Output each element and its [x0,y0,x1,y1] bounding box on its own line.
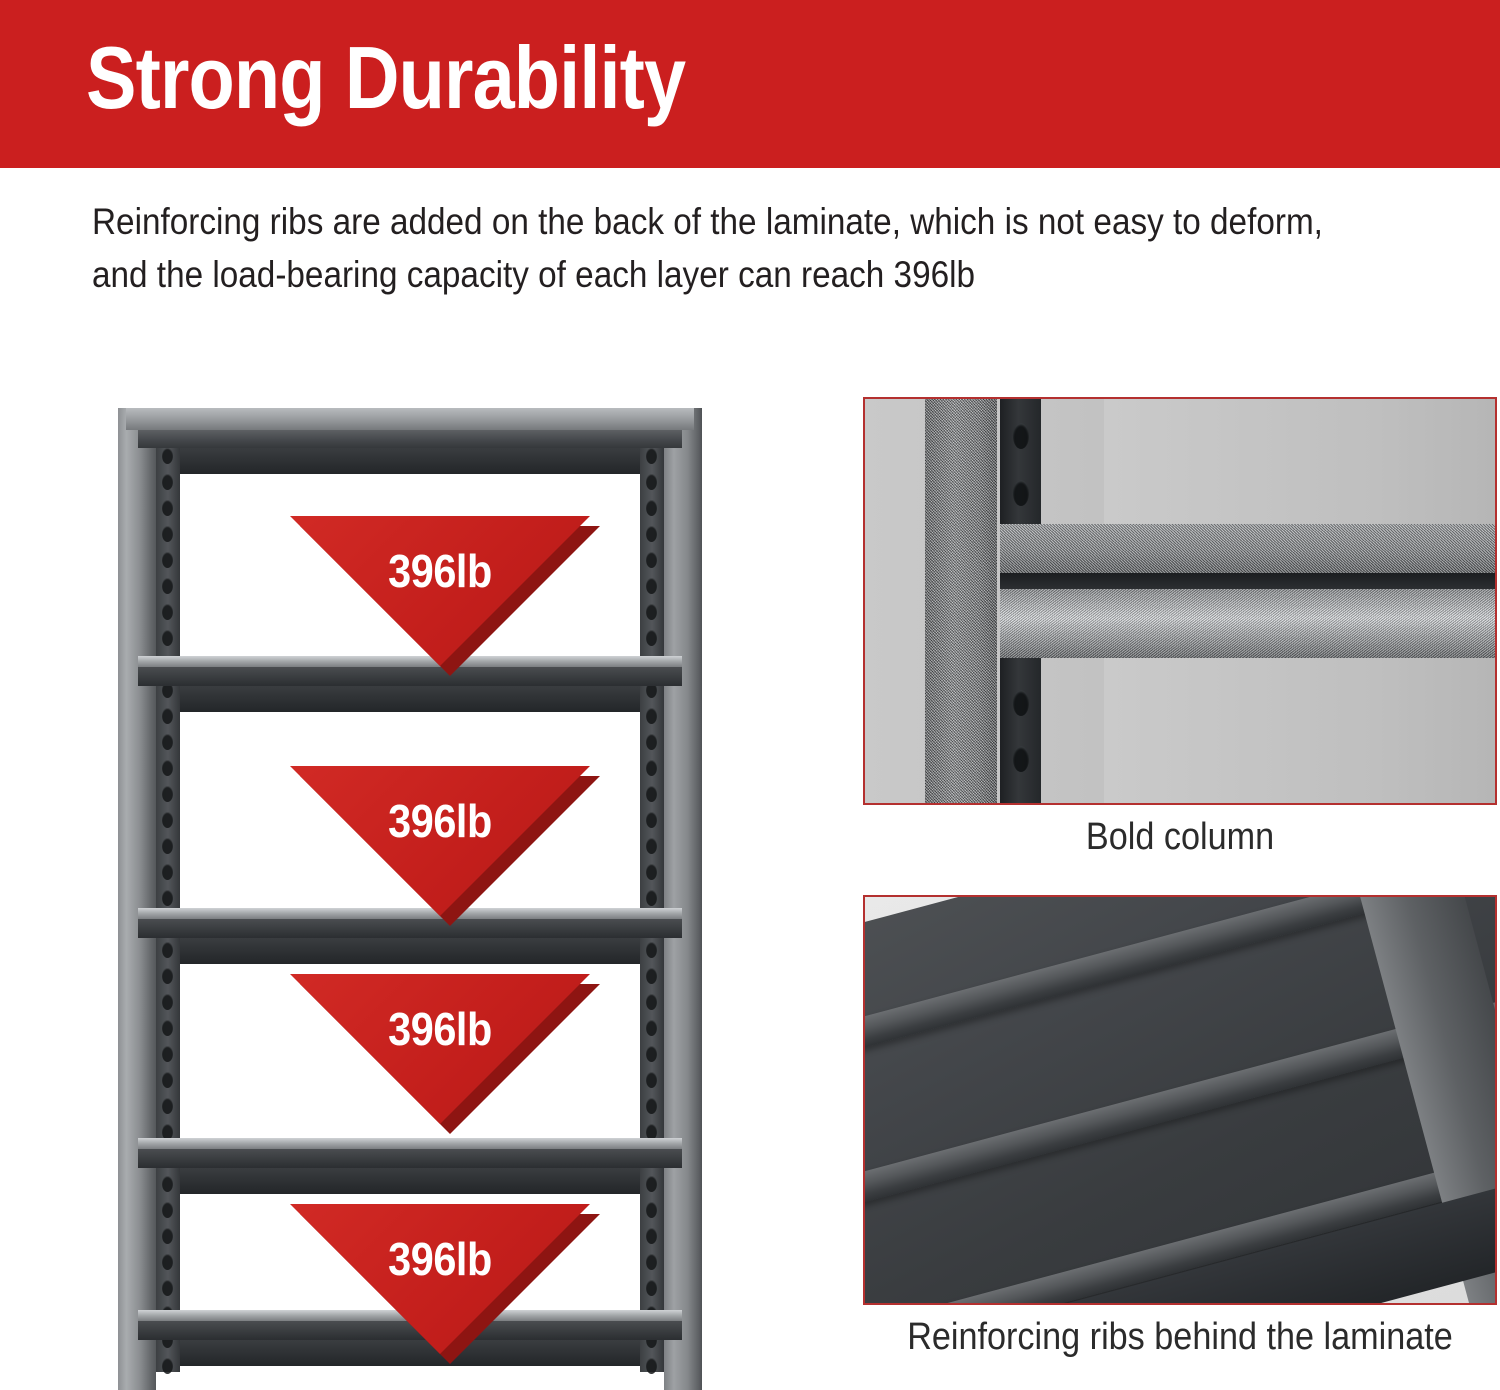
post-perforation [162,604,173,620]
post-perforation [162,552,173,568]
post-perforation [646,812,657,828]
post-perforation [162,1358,173,1374]
beam-seam [1000,573,1495,589]
rack-flange-left [156,442,180,1372]
post-perforation [646,942,657,958]
header-banner: Strong Durability [0,0,1500,168]
photo-panel-bold-column [863,397,1497,805]
post-perforation [646,1098,657,1114]
post-perforation [162,864,173,880]
post-perforation [162,448,173,464]
post-stud [1013,480,1029,506]
upper-beam-photo [1000,524,1495,572]
post-perforation [646,578,657,594]
load-badge-2: 396lb [290,766,590,916]
shelf-deck-4 [152,1168,668,1194]
shelf-deck-2 [152,686,668,712]
load-badge-1: 396lb [290,516,590,666]
post-perforation [162,812,173,828]
post-perforation [646,1280,657,1296]
intro-line-1: Reinforcing ribs are added on the back o… [92,196,1280,249]
load-badge-label: 396lb [305,544,575,598]
load-badge-3: 396lb [290,974,590,1124]
post-perforation [162,474,173,490]
shelving-unit-illustration: 396lb 396lb 396lb 396lb [118,408,702,1390]
post-perforation [162,578,173,594]
post-perforation [646,1176,657,1192]
shelf-deck-1 [152,448,668,474]
post-perforation [162,786,173,802]
photo-panel-reinforcing-ribs [863,895,1497,1305]
load-badge-label: 396lb [305,1002,575,1056]
post-perforation [646,474,657,490]
rack-post-left [118,408,156,1390]
post-perforation [646,1228,657,1244]
post-perforation [646,760,657,776]
post-perforation [646,448,657,464]
post-perforation [162,968,173,984]
post-stud [1013,423,1029,449]
post-stud [1013,746,1029,772]
post-perforation [162,1046,173,1062]
lower-beam-photo [1000,589,1495,658]
post-stud [1013,690,1029,716]
load-badge-label: 396lb [305,794,575,848]
post-perforation [646,1358,657,1374]
post-perforation [646,500,657,516]
post-perforation [646,1020,657,1036]
post-perforation [646,786,657,802]
post-perforation [162,734,173,750]
post-perforation [162,760,173,776]
post-perforation [162,1254,173,1270]
post-perforation [646,838,657,854]
post-perforation [162,1098,173,1114]
post-perforation [646,890,657,906]
post-perforation [162,630,173,646]
post-perforation [646,1202,657,1218]
post-perforation [162,1228,173,1244]
rack-post-right [664,408,702,1390]
post-perforation [646,734,657,750]
post-perforation [162,1072,173,1088]
post-perforation [646,1254,657,1270]
post-perforation [162,1020,173,1036]
caption-reinforcing-ribs: Reinforcing ribs behind the laminate [895,1316,1466,1359]
rack-top-rail [138,430,682,448]
post-perforation [162,708,173,724]
post-perforation [646,708,657,724]
post-perforation [162,838,173,854]
page-title: Strong Durability [86,30,685,125]
post-perforation [162,1280,173,1296]
post-perforation [162,1176,173,1192]
post-perforation [646,630,657,646]
post-perforation [162,526,173,542]
shelf-deck-3 [152,938,668,964]
post-perforation [162,1202,173,1218]
rack-top-cap [126,408,694,430]
post-perforation [646,1072,657,1088]
post-perforation [646,552,657,568]
load-badge-4: 396lb [290,1204,590,1354]
post-perforation [162,942,173,958]
post-perforation [646,1046,657,1062]
shelf-beam-4 [138,1138,682,1168]
post-perforation [646,968,657,984]
post-perforation [162,500,173,516]
caption-bold-column: Bold column [895,816,1466,859]
intro-line-2: and the load-bearing capacity of each la… [92,249,1280,302]
upright-column-photo [925,399,997,803]
post-perforation [162,890,173,906]
post-perforation [646,994,657,1010]
rack-flange-right [640,442,664,1372]
post-perforation [646,526,657,542]
post-perforation [162,994,173,1010]
post-perforation [646,864,657,880]
intro-paragraph: Reinforcing ribs are added on the back o… [92,196,1280,301]
load-badge-label: 396lb [305,1232,575,1286]
post-perforation [646,604,657,620]
